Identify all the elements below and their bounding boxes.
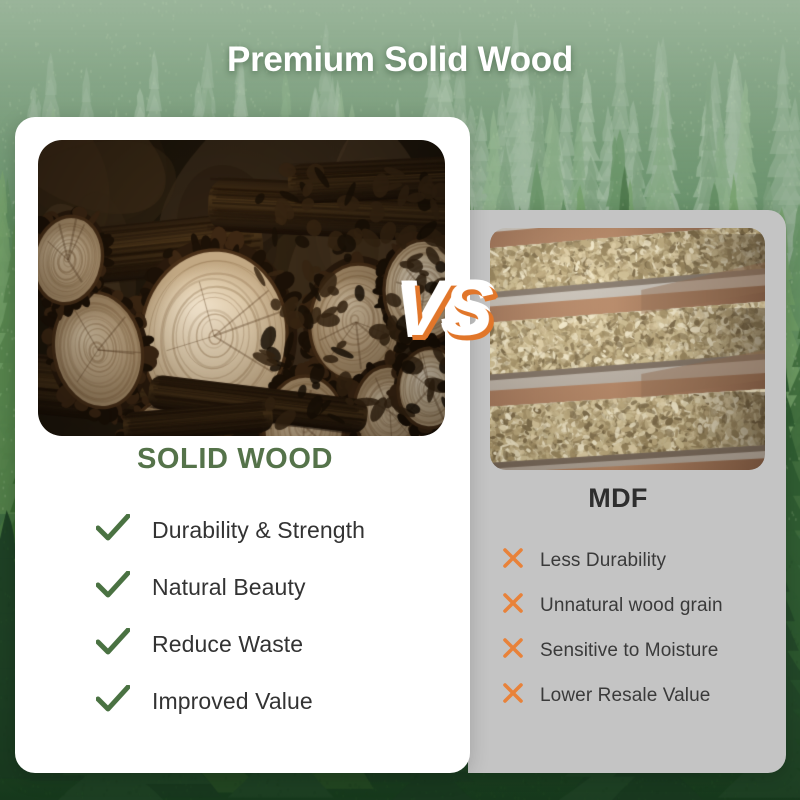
- vs-badge: VS: [394, 266, 490, 353]
- list-item: Sensitive to Moisture: [502, 628, 792, 673]
- check-icon: [96, 628, 130, 661]
- stacked-logs-photo: [38, 140, 445, 436]
- cross-icon: [502, 592, 524, 619]
- mdf-drawbacks-list: Less Durability Unnatural wood grain Sen…: [502, 538, 792, 718]
- cross-icon: [502, 547, 524, 574]
- comparison-section: VS SOLID WOOD MDF Durability & Strength …: [0, 0, 800, 800]
- list-item-label: Reduce Waste: [152, 631, 303, 658]
- check-icon: [96, 514, 130, 547]
- list-item: Unnatural wood grain: [502, 583, 792, 628]
- particleboard-photo: [490, 228, 765, 470]
- check-icon: [96, 571, 130, 604]
- list-item: Lower Resale Value: [502, 673, 792, 718]
- list-item: Less Durability: [502, 538, 792, 583]
- check-icon: [96, 685, 130, 718]
- list-item-label: Sensitive to Moisture: [540, 640, 718, 662]
- list-item-label: Lower Resale Value: [540, 685, 710, 707]
- list-item-label: Improved Value: [152, 688, 313, 715]
- list-item-label: Natural Beauty: [152, 574, 306, 601]
- list-item: Natural Beauty: [96, 559, 446, 616]
- page-title: Premium Solid Wood: [0, 40, 800, 80]
- mdf-heading: MDF: [468, 483, 768, 514]
- solid-wood-benefits-list: Durability & Strength Natural Beauty Red…: [96, 502, 446, 730]
- list-item-label: Less Durability: [540, 550, 666, 572]
- list-item: Reduce Waste: [96, 616, 446, 673]
- cross-icon: [502, 637, 524, 664]
- list-item: Improved Value: [96, 673, 446, 730]
- list-item-label: Durability & Strength: [152, 517, 365, 544]
- list-item: Durability & Strength: [96, 502, 446, 559]
- solid-wood-heading: SOLID WOOD: [15, 443, 455, 476]
- cross-icon: [502, 682, 524, 709]
- list-item-label: Unnatural wood grain: [540, 595, 723, 617]
